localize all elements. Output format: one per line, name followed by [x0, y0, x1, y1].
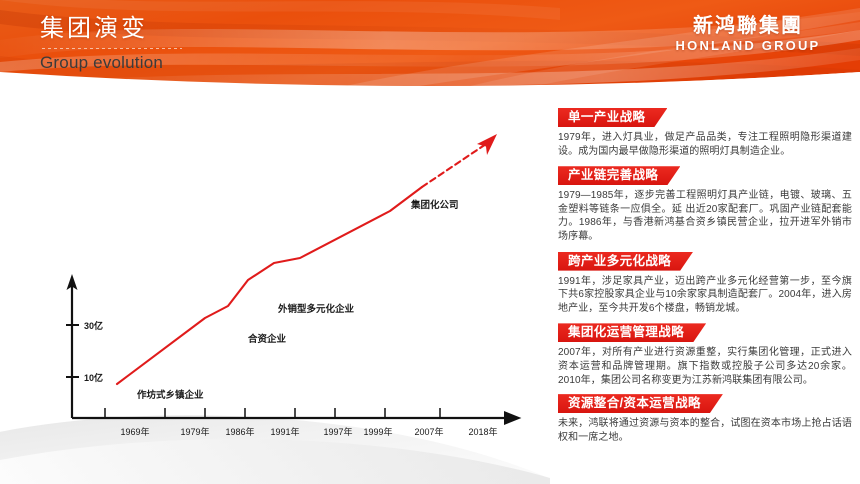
section-heading-text: 资源整合/资本运营战略 [568, 396, 701, 410]
strategy-section: 单一产业战略 1979年，进入灯具业，做足产品品类，专注工程照明隐形渠道建设。成… [556, 108, 852, 158]
y-tick-label: 10亿 [84, 372, 103, 383]
header-title-block: 集团演变 Group evolution [40, 14, 370, 74]
section-heading-ribbon: 资源整合/资本运营战略 [558, 394, 723, 413]
x-tick-label: 1997年 [323, 426, 352, 437]
strategy-section: 跨产业多元化战略 1991年，涉足家具产业，迈出跨产业多元化经营第一步，至今旗下… [556, 252, 852, 316]
section-heading-ribbon: 集团化运营管理战略 [558, 323, 706, 342]
chart-annotation-label: 合资企业 [248, 333, 287, 345]
evolution-chart: 30亿 10亿 1969年 1979年 1986年 1991年 [0, 96, 550, 484]
section-heading-text: 产业链完善战略 [568, 168, 658, 182]
x-tick-label: 1979年 [180, 426, 209, 437]
x-tick-label: 2018年 [468, 426, 497, 437]
chart-axes: 30亿 10亿 1969年 1979年 1986年 1991年 [66, 274, 506, 437]
header-banner: 集团演变 Group evolution 新鸿聯集團 HONLAND GROUP [0, 0, 860, 96]
section-heading-text: 集团化运营管理战略 [568, 325, 684, 339]
section-body-text: 未来，鸿联将通过资源与资本的整合，试图在资本市场上抢占话语权和一席之地。 [558, 417, 852, 444]
brand-logo: 新鸿聯集團 HONLAND GROUP [658, 14, 838, 54]
x-tick-label: 1991年 [270, 426, 299, 437]
title-divider [42, 47, 182, 50]
y-tick-label: 30亿 [84, 320, 103, 331]
page-title-en: Group evolution [40, 52, 370, 74]
chart-line-series [117, 134, 497, 384]
chart-annotation-label: 外销型多元化企业 [277, 303, 355, 315]
chart-annotation-label: 集团化公司 [410, 199, 459, 211]
section-heading-text: 单一产业战略 [568, 110, 645, 124]
logo-text-cn: 新鸿聯集團 [658, 14, 838, 38]
section-body-text: 1991年，涉足家具产业，迈出跨产业多元化经营第一步，至今旗下共6家控股家具企业… [558, 275, 852, 316]
section-heading-ribbon: 产业链完善战略 [558, 166, 680, 185]
x-tick-label: 1969年 [120, 426, 149, 437]
strategy-section: 集团化运营管理战略 2007年，对所有产业进行资源重整，实行集团化管理，正式进入… [556, 323, 852, 387]
chart-projection-arrowhead [477, 134, 497, 155]
section-body-text: 2007年，对所有产业进行资源重整，实行集团化管理，正式进入资本运营和品牌管理期… [558, 346, 852, 387]
chart-annotation-label: 作坊式乡镇企业 [137, 389, 204, 401]
x-tick-label: 2007年 [414, 426, 443, 437]
chart-projection-dashed [422, 144, 486, 187]
section-body-text: 1979—1985年，逐步完善工程照明灯具产业链，电镀、玻璃、五金塑料等链条一应… [558, 189, 852, 243]
page-title-cn: 集团演变 [40, 14, 370, 44]
x-tick-label: 1999年 [363, 426, 392, 437]
chart-annotations: 作坊式乡镇企业 合资企业 外销型多元化企业 集团化公司 [137, 199, 459, 401]
strategy-section: 资源整合/资本运营战略 未来，鸿联将通过资源与资本的整合，试图在资本市场上抢占话… [556, 394, 852, 444]
slide-canvas: 集团演变 Group evolution 新鸿聯集團 HONLAND GROUP [0, 0, 860, 484]
strategy-section: 产业链完善战略 1979—1985年，逐步完善工程照明灯具产业链，电镀、玻璃、五… [556, 166, 852, 243]
section-heading-text: 跨产业多元化战略 [568, 254, 671, 268]
section-heading-ribbon: 跨产业多元化战略 [558, 252, 693, 271]
section-heading-ribbon: 单一产业战略 [558, 108, 667, 127]
section-body-text: 1979年，进入灯具业，做足产品品类，专注工程照明隐形渠道建设。成为国内最早做隐… [558, 131, 852, 158]
x-tick-label: 1986年 [225, 426, 254, 437]
bottom-swoosh-decoration [0, 415, 550, 484]
logo-text-en: HONLAND GROUP [658, 38, 838, 54]
strategy-panel: 单一产业战略 1979年，进入灯具业，做足产品品类，专注工程照明隐形渠道建设。成… [556, 108, 852, 474]
